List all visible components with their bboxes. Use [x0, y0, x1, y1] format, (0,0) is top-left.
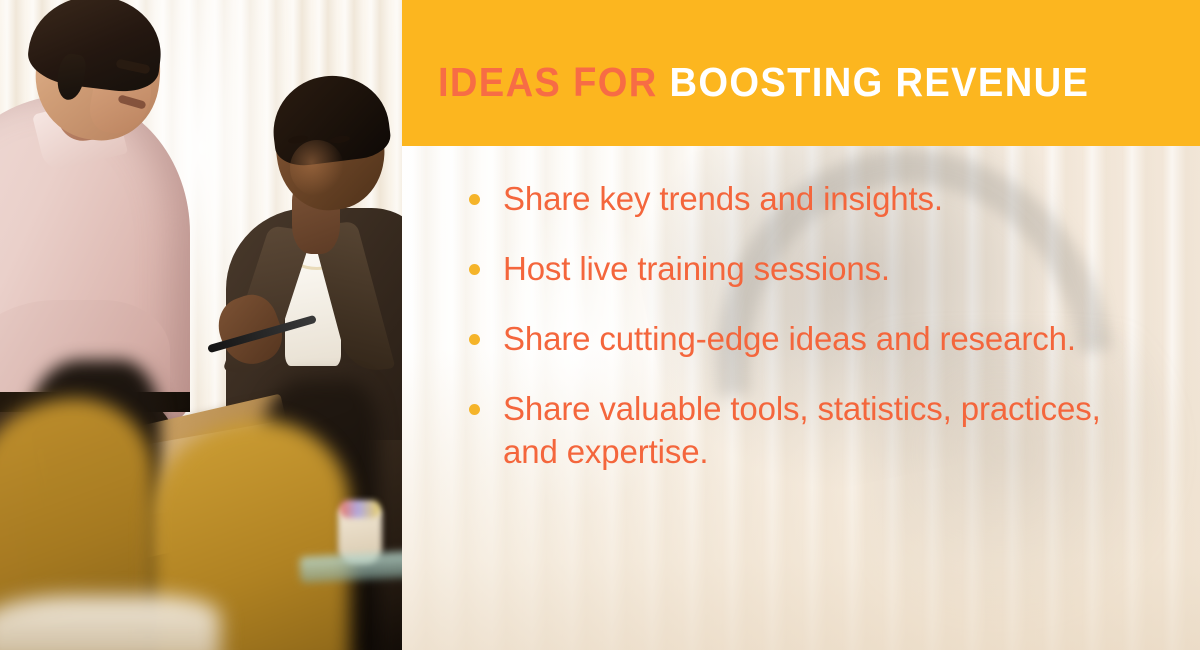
bullet-dot-icon [469, 404, 480, 415]
office-photo [0, 0, 402, 650]
list-item: Share cutting-edge ideas and research. [462, 318, 1162, 361]
foreground-glass-table [299, 551, 402, 583]
page-title: IDEAS FOR BOOSTING REVENUE [438, 62, 1089, 103]
list-item: Share valuable tools, statistics, practi… [462, 388, 1162, 474]
page-title-accent: IDEAS FOR [438, 59, 658, 105]
list-item-label: Share cutting-edge ideas and research. [503, 320, 1076, 357]
list-item-label: Share key trends and insights. [503, 180, 943, 217]
page-title-main: BOOSTING REVENUE [670, 59, 1090, 105]
list-item: Share key trends and insights. [462, 178, 1162, 221]
bullet-dot-icon [469, 264, 480, 275]
woman-cheek-shading [290, 140, 344, 196]
bullet-dot-icon [469, 194, 480, 205]
list-item: Host live training sessions. [462, 248, 1162, 291]
foreground-table-edge [0, 596, 220, 650]
list-item-label: Share valuable tools, statistics, practi… [503, 390, 1101, 470]
foreground-cup-contents [340, 500, 380, 518]
bullet-dot-icon [469, 334, 480, 345]
header-bar: IDEAS FOR BOOSTING REVENUE [402, 0, 1200, 146]
ideas-bullet-list: Share key trends and insights. Host live… [462, 178, 1162, 473]
content-panel: IDEAS FOR BOOSTING REVENUE Share key tre… [402, 0, 1200, 650]
slide: IDEAS FOR BOOSTING REVENUE Share key tre… [0, 0, 1200, 650]
list-item-label: Host live training sessions. [503, 250, 890, 287]
